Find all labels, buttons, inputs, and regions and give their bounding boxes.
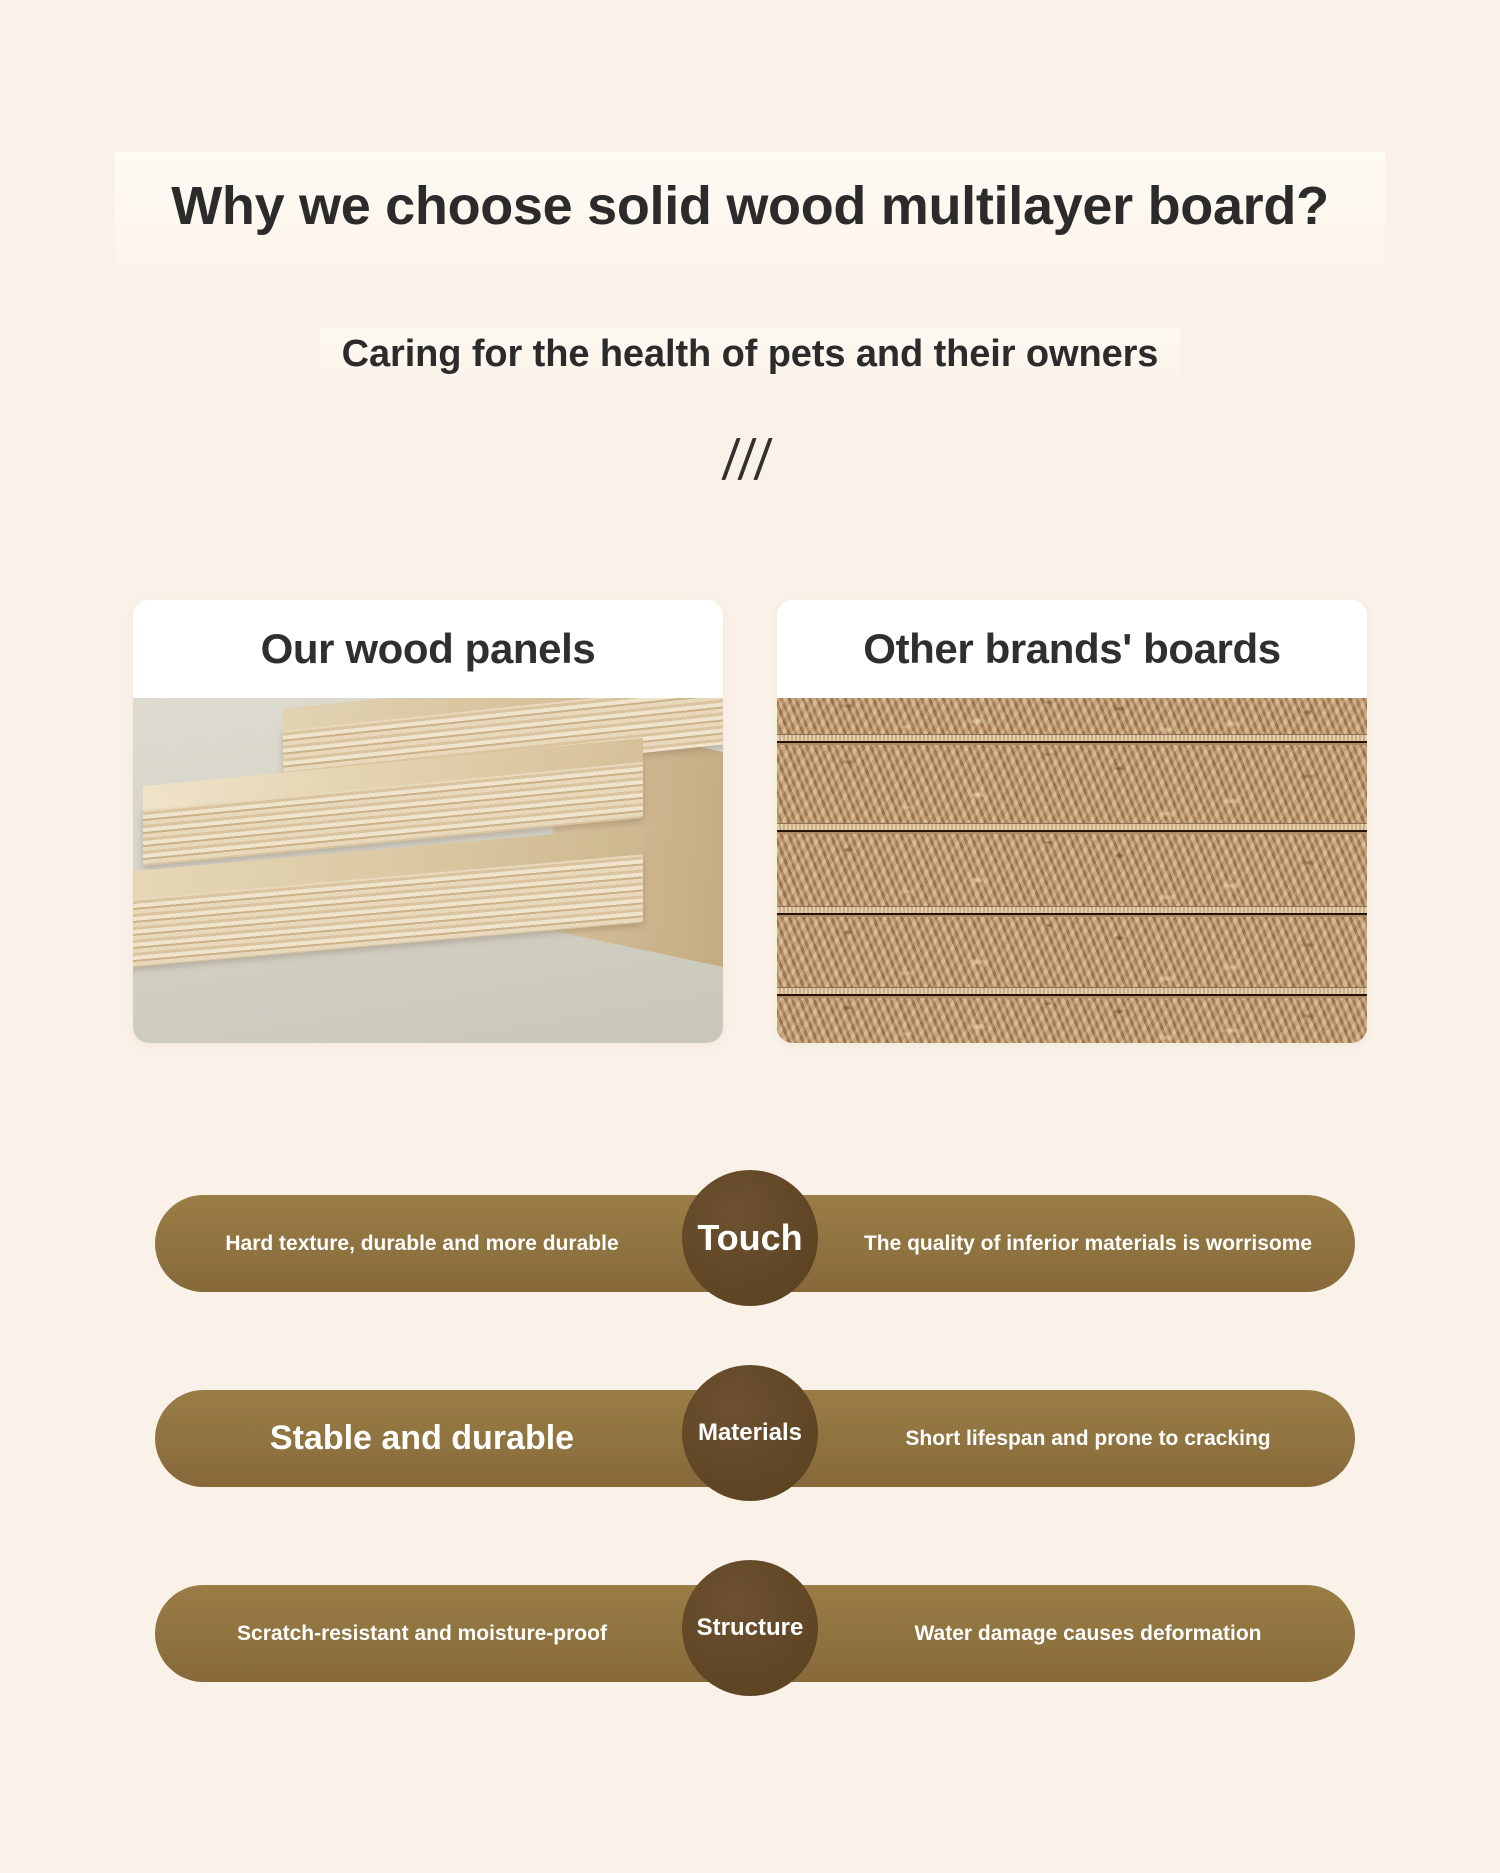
feature-comparison-bars: Hard texture, durable and more durable T… bbox=[0, 1150, 1500, 1735]
feature-right-cell: The quality of inferior materials is wor… bbox=[755, 1231, 1355, 1257]
feature-left-cell: Stable and durable bbox=[155, 1418, 755, 1459]
feature-badge-structure: Structure bbox=[682, 1560, 818, 1696]
card-our-wood-panels: Our wood panels bbox=[133, 600, 723, 1043]
comparison-cards: Our wood panels Other brands' boards bbox=[0, 600, 1500, 1043]
card-title-others: Other brands' boards bbox=[863, 625, 1280, 673]
feature-right-text: The quality of inferior materials is wor… bbox=[864, 1231, 1312, 1257]
card-header-ours: Our wood panels bbox=[133, 600, 723, 698]
feature-left-text: Stable and durable bbox=[270, 1418, 574, 1459]
feature-left-cell: Hard texture, durable and more durable bbox=[155, 1231, 755, 1257]
feature-right-cell: Short lifespan and prone to cracking bbox=[755, 1426, 1355, 1452]
feature-badge-label: Materials bbox=[698, 1420, 802, 1446]
page-subtitle: Caring for the health of pets and their … bbox=[320, 327, 1181, 382]
feature-right-text: Water damage causes deformation bbox=[915, 1621, 1262, 1647]
feature-badge-label: Touch bbox=[697, 1218, 802, 1258]
card-title-ours: Our wood panels bbox=[261, 625, 596, 673]
infographic-page: Why we choose solid wood multilayer boar… bbox=[0, 0, 1500, 1873]
feature-left-text: Scratch-resistant and moisture-proof bbox=[237, 1621, 607, 1647]
feature-row-materials: Stable and durable Short lifespan and pr… bbox=[0, 1345, 1500, 1540]
feature-row-structure: Scratch-resistant and moisture-proof Wat… bbox=[0, 1540, 1500, 1735]
feature-left-cell: Scratch-resistant and moisture-proof bbox=[155, 1621, 755, 1647]
feature-badge-materials: Materials bbox=[682, 1365, 818, 1501]
title-banner: Why we choose solid wood multilayer boar… bbox=[115, 152, 1385, 265]
feature-left-text: Hard texture, durable and more durable bbox=[225, 1231, 618, 1257]
particleboard-osb-image bbox=[777, 698, 1367, 1043]
feature-badge-label: Structure bbox=[697, 1615, 804, 1641]
header-section: Why we choose solid wood multilayer boar… bbox=[0, 0, 1500, 484]
feature-right-text: Short lifespan and prone to cracking bbox=[905, 1426, 1270, 1452]
page-title: Why we choose solid wood multilayer boar… bbox=[171, 178, 1329, 235]
subtitle-banner: Caring for the health of pets and their … bbox=[0, 327, 1500, 382]
feature-right-cell: Water damage causes deformation bbox=[755, 1621, 1355, 1647]
triple-slash-icon bbox=[715, 436, 785, 484]
feature-badge-touch: Touch bbox=[682, 1170, 818, 1306]
card-header-others: Other brands' boards bbox=[777, 600, 1367, 698]
feature-row-touch: Hard texture, durable and more durable T… bbox=[0, 1150, 1500, 1345]
plywood-stack-image bbox=[133, 698, 723, 1043]
card-other-brands-boards: Other brands' boards bbox=[777, 600, 1367, 1043]
